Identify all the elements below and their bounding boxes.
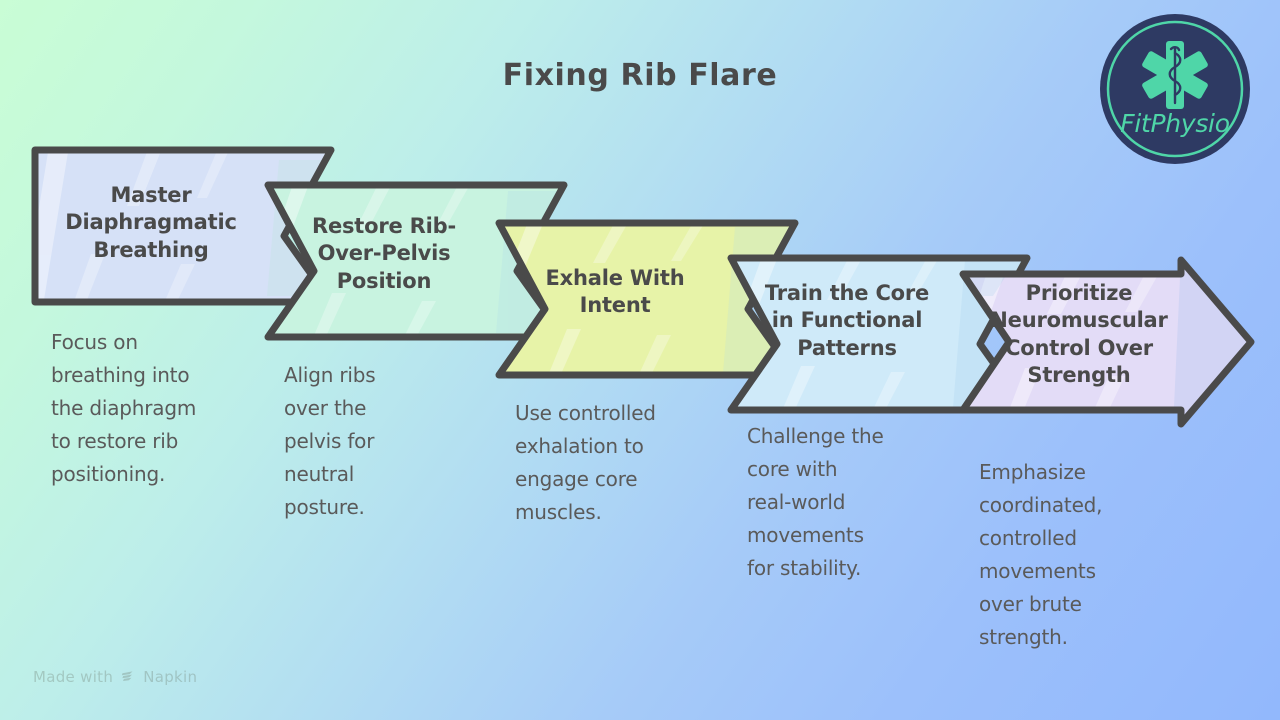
step-3-description: Use controlled exhalation to engage core… [515, 397, 730, 529]
step-5-description: Emphasize coordinated, controlled moveme… [979, 456, 1194, 654]
step-1-label: Master Diaphragmatic Breathing [31, 182, 271, 264]
step-5-label: Prioritize Neuromuscular Control Over St… [959, 280, 1199, 389]
watermark-brand: Napkin [143, 668, 197, 686]
step-3-label: Exhale With Intent [495, 265, 735, 320]
logo-wordmark: FitPhysio [1099, 109, 1251, 138]
page-title: Fixing Rib Flare [0, 58, 1280, 93]
infographic-canvas: Fixing Rib Flare FitPhysio [0, 0, 1280, 720]
watermark-prefix: Made with [33, 668, 113, 686]
napkin-watermark[interactable]: Made with Napkin [33, 668, 197, 686]
step-4-label: Train the Core in Functional Patterns [727, 280, 967, 362]
step-2-label: Restore Rib- Over-Pelvis Position [264, 213, 504, 295]
step-2-description: Align ribs over the pelvis for neutral p… [284, 359, 499, 524]
logo-graphic [1099, 13, 1251, 165]
step-1-description: Focus on breathing into the diaphragm to… [51, 326, 266, 491]
napkin-logo-icon [120, 669, 136, 685]
step-4-description: Challenge the core with real-world movem… [747, 420, 952, 585]
brand-logo: FitPhysio [1099, 13, 1251, 165]
